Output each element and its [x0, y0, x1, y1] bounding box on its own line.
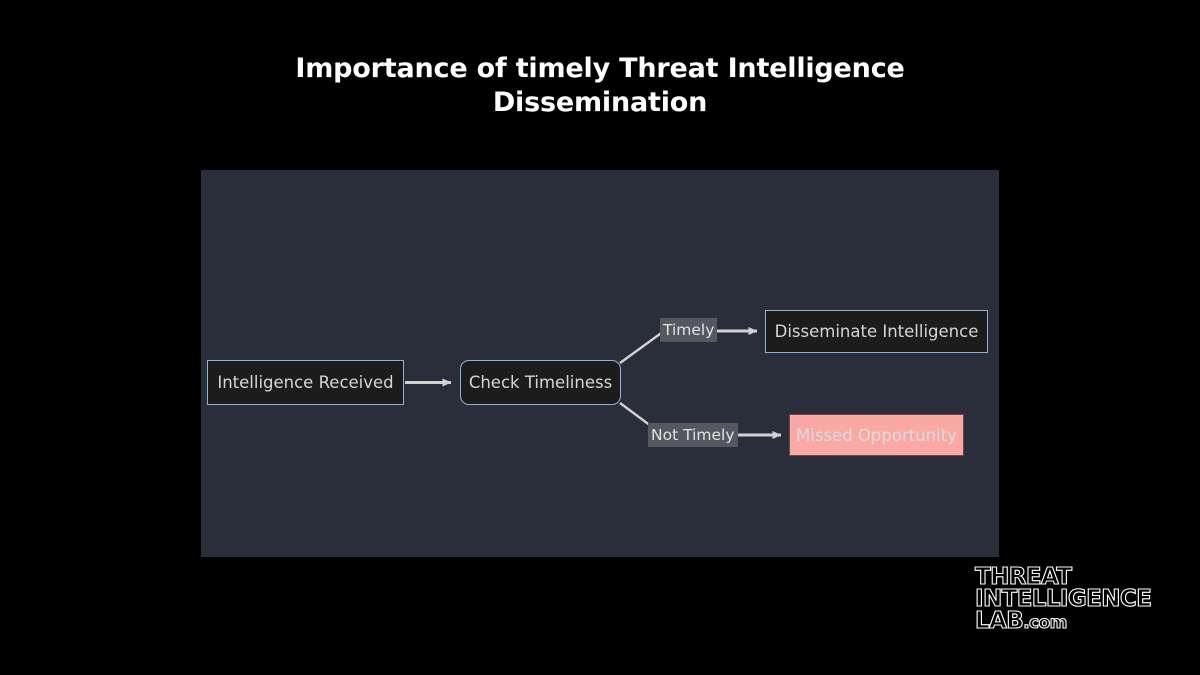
- page-title-line-1: Importance of timely Threat Intelligence: [0, 52, 1200, 86]
- flow-node-intelligence-received[interactable]: Intelligence Received: [207, 360, 404, 405]
- logo-domain-text: .com: [1023, 613, 1067, 633]
- flow-node-label: Missed Opportunity: [796, 426, 957, 445]
- logo-lab-text: LAB: [975, 608, 1023, 634]
- flow-node-check-timeliness[interactable]: Check Timeliness: [460, 360, 621, 405]
- logo-line-threat: THREAT: [975, 566, 1145, 588]
- flow-node-label: Intelligence Received: [217, 373, 393, 392]
- page-title: Importance of timely Threat Intelligence…: [0, 52, 1200, 120]
- flow-node-missed-opportunity[interactable]: Missed Opportunity: [789, 414, 964, 456]
- logo-line-lab: LAB.com: [975, 610, 1145, 634]
- flow-node-label: Check Timeliness: [469, 373, 612, 392]
- edge-label-not-timely: Not Timely: [648, 423, 738, 447]
- flow-node-disseminate-intelligence[interactable]: Disseminate Intelligence: [765, 310, 988, 353]
- flowchart-panel: Intelligence Received Check Timeliness D…: [201, 170, 999, 557]
- slide-canvas: Importance of timely Threat Intelligence…: [0, 0, 1200, 675]
- flow-node-label: Disseminate Intelligence: [775, 322, 979, 341]
- logo-line-intelligence: INTELLIGENCE: [975, 588, 1145, 610]
- brand-logo: THREAT INTELLIGENCE LAB.com: [975, 566, 1145, 634]
- page-title-line-2: Dissemination: [0, 86, 1200, 120]
- edge-label-timely: Timely: [660, 318, 717, 342]
